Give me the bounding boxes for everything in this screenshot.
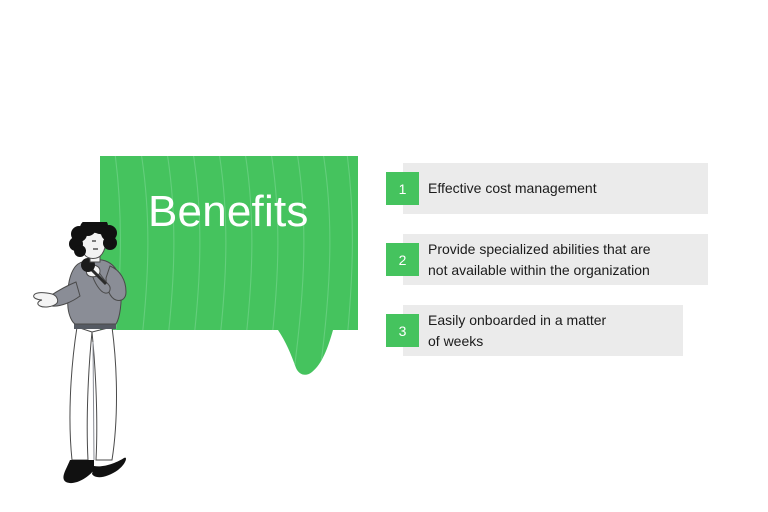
hand-left-open-palm <box>34 293 58 307</box>
list-item[interactable]: 1 Effective cost management <box>386 163 716 214</box>
benefits-list: 1 Effective cost management 2 Provide sp… <box>386 163 716 356</box>
presenter-illustration <box>30 222 180 500</box>
slide-canvas: Benefits <box>0 0 768 512</box>
shoe-left <box>63 460 94 483</box>
shoe-right <box>92 458 126 478</box>
list-item[interactable]: 3 Easily onboarded in a matter of weeks <box>386 305 716 356</box>
trouser-right <box>92 327 117 460</box>
benefit-label: Effective cost management <box>403 178 607 199</box>
benefit-number-badge: 3 <box>386 314 419 347</box>
benefit-number-badge: 1 <box>386 172 419 205</box>
benefit-panel: Provide specialized abilities that are n… <box>403 234 708 285</box>
benefit-label: Easily onboarded in a matter of weeks <box>403 310 616 352</box>
trouser-left <box>70 327 92 460</box>
benefit-number-badge: 2 <box>386 243 419 276</box>
benefit-panel: Effective cost management <box>403 163 708 214</box>
list-item[interactable]: 2 Provide specialized abilities that are… <box>386 234 716 285</box>
benefit-label: Provide specialized abilities that are n… <box>403 239 661 281</box>
trouser-crease <box>93 342 94 460</box>
benefit-panel: Easily onboarded in a matter of weeks <box>403 305 683 356</box>
